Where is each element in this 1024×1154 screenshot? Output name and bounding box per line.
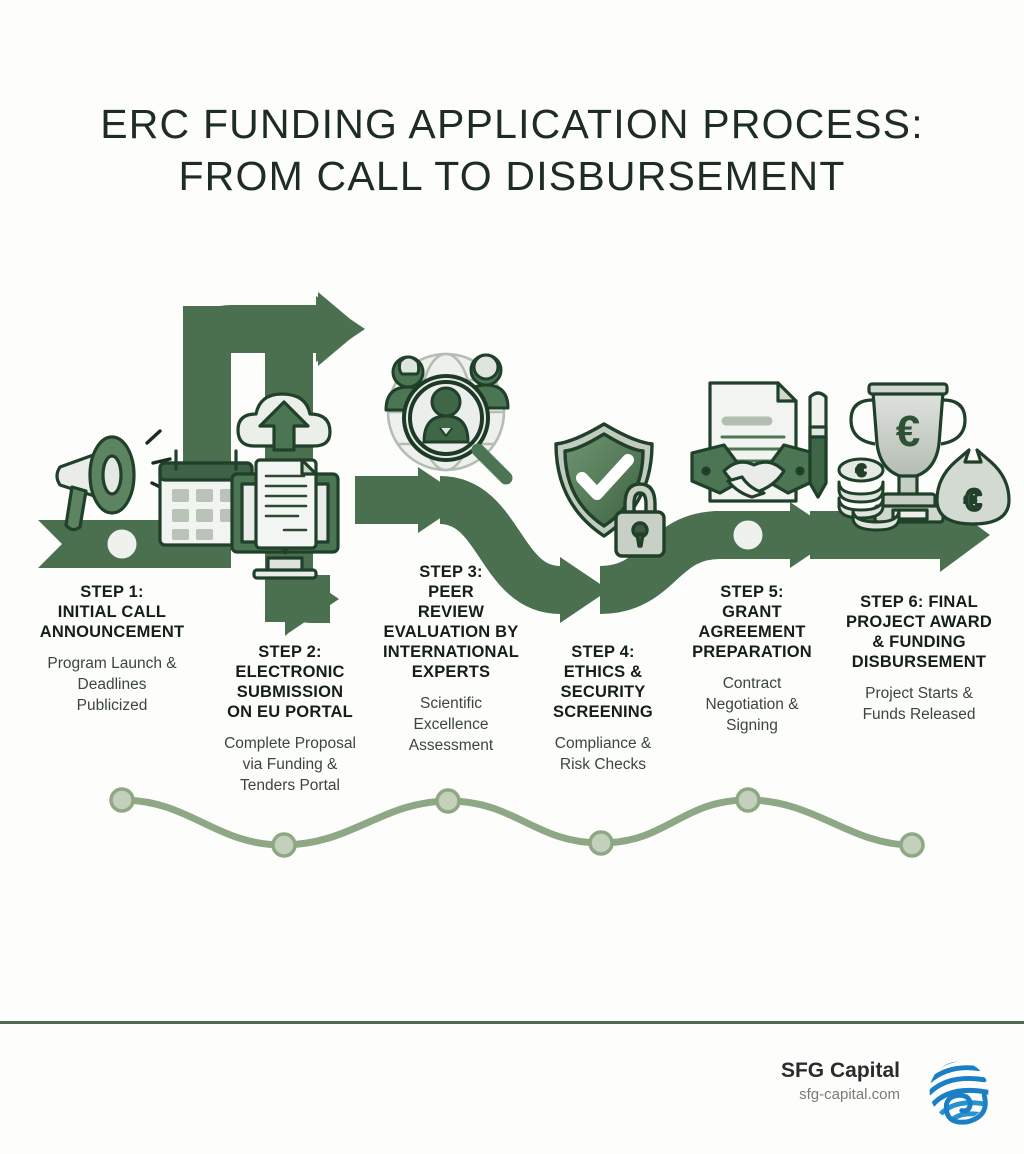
- brand-name: SFG Capital: [781, 1058, 900, 1084]
- step-6: STEP 6: FINALPROJECT AWARD& FUNDINGDISBU…: [828, 592, 1010, 725]
- megaphone-calendar-icon: [57, 431, 252, 545]
- infographic-canvas: ERC FUNDING APPLICATION PROCESS: FROM CA…: [0, 0, 1024, 1154]
- globe-people-magnifier-icon: [386, 354, 508, 478]
- svg-text:€: €: [856, 461, 866, 480]
- step-2: STEP 2:ELECTRONICSUBMISSIONON EU PORTAL …: [196, 642, 384, 796]
- flow-node-dot: [732, 519, 764, 551]
- step-4: STEP 4:ETHICS &SECURITYSCREENING Complia…: [530, 642, 676, 775]
- step-5-description: ContractNegotiation &Signing: [676, 673, 828, 736]
- step-4-title: STEP 4:ETHICS &SECURITYSCREENING: [530, 642, 676, 722]
- footer-divider: [0, 1021, 1024, 1024]
- step-1: STEP 1:INITIAL CALLANNOUNCEMENT Program …: [16, 582, 208, 716]
- shield-check-lock-icon: [556, 424, 664, 556]
- page-title: ERC FUNDING APPLICATION PROCESS: FROM CA…: [0, 98, 1024, 202]
- step-2-description: Complete Proposalvia Funding &Tenders Po…: [196, 733, 384, 796]
- title-line-2: FROM CALL TO DISBURSEMENT: [0, 150, 1024, 202]
- wave-dot: [590, 832, 612, 854]
- step-6-title: STEP 6: FINALPROJECT AWARD& FUNDINGDISBU…: [828, 592, 1010, 672]
- wave-dot: [901, 834, 923, 856]
- step-3: STEP 3:PEERREVIEWEVALUATION BYINTERNATIO…: [362, 562, 540, 756]
- brand-url: sfg-capital.com: [781, 1084, 900, 1105]
- wave-dot: [437, 790, 459, 812]
- title-line-1: ERC FUNDING APPLICATION PROCESS:: [0, 98, 1024, 150]
- trophy-euro-money-icon: € € €: [839, 384, 1009, 530]
- step-3-title: STEP 3:PEERREVIEWEVALUATION BYINTERNATIO…: [362, 562, 540, 682]
- step-3-description: ScientificExcellenceAssessment: [362, 693, 540, 756]
- handshake-contract-pen-icon: [692, 383, 826, 501]
- step-1-description: Program Launch &DeadlinesPublicized: [16, 653, 208, 716]
- step-5: STEP 5:GRANTAGREEMENTPREPARATION Contrac…: [676, 582, 828, 736]
- step-4-description: Compliance &Risk Checks: [530, 733, 676, 775]
- step-2-title: STEP 2:ELECTRONICSUBMISSIONON EU PORTAL: [196, 642, 384, 722]
- wave-dot: [111, 789, 133, 811]
- step-1-title: STEP 1:INITIAL CALLANNOUNCEMENT: [16, 582, 208, 642]
- wave-dot: [737, 789, 759, 811]
- footer-branding: SFG Capital sfg-capital.com: [781, 1058, 900, 1105]
- step-5-title: STEP 5:GRANTAGREEMENTPREPARATION: [676, 582, 828, 662]
- cloud-upload-document-monitor-icon: [232, 394, 338, 578]
- globe-swirl-logo: [924, 1056, 994, 1126]
- wave-dot: [273, 834, 295, 856]
- decorative-wave: [111, 789, 923, 856]
- svg-text:€: €: [896, 407, 920, 456]
- svg-text:€: €: [965, 484, 982, 517]
- flow-node-dot: [106, 528, 138, 560]
- step-6-description: Project Starts &Funds Released: [828, 683, 1010, 725]
